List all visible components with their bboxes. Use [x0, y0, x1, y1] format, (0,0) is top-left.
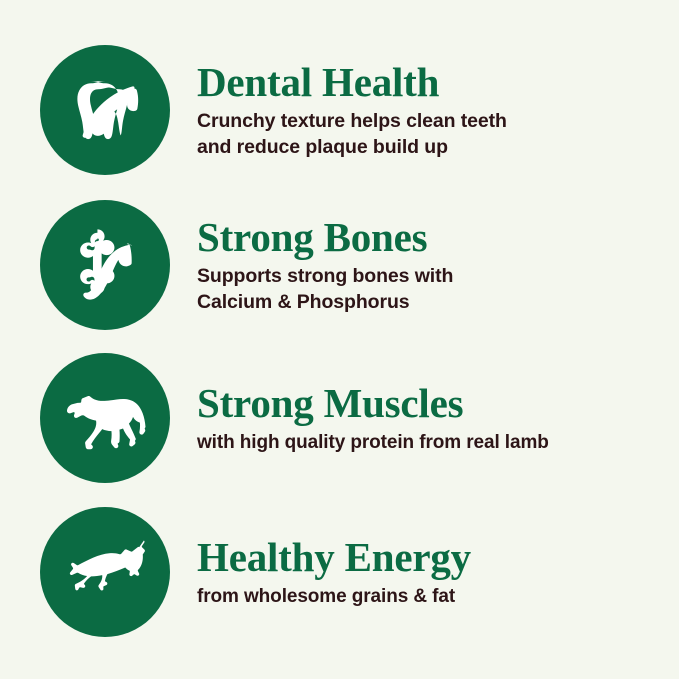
benefit-description: from wholesome grains & fat [197, 584, 667, 609]
benefit-description-line: and reduce plaque build up [197, 135, 667, 161]
standing-dog-icon-badge [40, 353, 170, 483]
benefit-text-block: Strong Muscles with high quality protein… [197, 341, 667, 496]
benefit-row: Healthy Energy from wholesome grains & f… [0, 495, 679, 650]
benefit-text-block: Strong Bones Supports strong bones with … [197, 188, 667, 343]
benefit-description-line: Crunchy texture helps clean teeth [197, 109, 667, 135]
benefit-description: Supports strong bones with Calcium & Pho… [197, 264, 667, 315]
benefit-description-line: Calcium & Phosphorus [197, 290, 667, 316]
leaping-dog-icon [57, 524, 153, 620]
benefit-description-line: with high quality protein from real lamb [197, 430, 667, 455]
benefit-title: Healthy Energy [197, 536, 667, 578]
bone-leaf-icon [62, 222, 148, 308]
leaping-dog-icon-badge [40, 507, 170, 637]
benefit-title: Strong Bones [197, 216, 667, 258]
benefit-description: Crunchy texture helps clean teeth and re… [197, 109, 667, 160]
standing-dog-icon [59, 372, 151, 464]
benefit-row: Strong Muscles with high quality protein… [0, 341, 679, 496]
benefit-text-block: Healthy Energy from wholesome grains & f… [197, 495, 667, 650]
benefit-text-block: Dental Health Crunchy texture helps clea… [197, 33, 667, 188]
tooth-leaf-icon [62, 67, 148, 153]
benefit-description: with high quality protein from real lamb [197, 430, 667, 455]
benefit-row: Dental Health Crunchy texture helps clea… [0, 33, 679, 188]
bone-leaf-icon-badge [40, 200, 170, 330]
benefit-description-line: Supports strong bones with [197, 264, 667, 290]
benefit-description-line: from wholesome grains & fat [197, 584, 667, 609]
benefit-title: Dental Health [197, 61, 667, 103]
benefit-row: Strong Bones Supports strong bones with … [0, 188, 679, 343]
tooth-leaf-icon-badge [40, 45, 170, 175]
benefits-panel: Dental Health Crunchy texture helps clea… [0, 0, 679, 679]
benefit-title: Strong Muscles [197, 382, 667, 424]
